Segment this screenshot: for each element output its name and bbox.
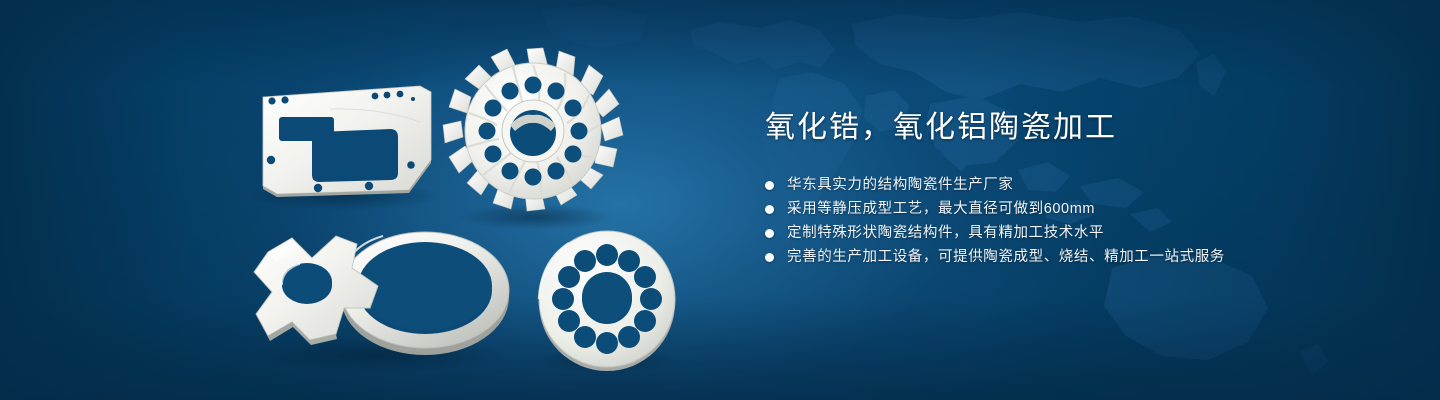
ceramic-cross-plate-and-ring xyxy=(248,232,512,373)
list-item: 采用等静压成型工艺，最大直径可做到600mm xyxy=(765,198,1405,220)
feature-list: 华东具实力的结构陶瓷件生产厂家 采用等静压成型工艺，最大直径可做到600mm 定… xyxy=(765,174,1405,268)
list-item: 完善的生产加工设备，可提供陶瓷成型、烧结、精加工一站式服务 xyxy=(765,246,1405,268)
bullet-dot-icon xyxy=(765,253,774,262)
list-item-label: 采用等静压成型工艺，最大直径可做到600mm xyxy=(787,198,1095,220)
list-item: 华东具实力的结构陶瓷件生产厂家 xyxy=(765,174,1405,196)
bullet-dot-icon xyxy=(765,229,774,238)
ceramic-flange-disc-12-holes xyxy=(535,231,679,373)
list-item-label: 完善的生产加工设备，可提供陶瓷成型、烧结、精加工一站式服务 xyxy=(787,246,1225,268)
product-photo-cluster xyxy=(0,0,740,400)
ceramic-impeller-wheel xyxy=(443,48,623,230)
bullet-dot-icon xyxy=(765,181,774,190)
list-item-label: 定制特殊形状陶瓷结构件，具有精加工技术水平 xyxy=(787,222,1104,244)
page-title: 氧化锆，氧化铝陶瓷加工 xyxy=(765,108,1405,148)
banner-copy: 氧化锆，氧化铝陶瓷加工 华东具实力的结构陶瓷件生产厂家 采用等静压成型工艺，最大… xyxy=(765,108,1405,270)
list-item-label: 华东具实力的结构陶瓷件生产厂家 xyxy=(787,174,1014,196)
ceramic-plate-with-cutouts xyxy=(247,86,443,210)
list-item: 定制特殊形状陶瓷结构件，具有精加工技术水平 xyxy=(765,222,1405,244)
hero-banner: 氧化锆，氧化铝陶瓷加工 华东具实力的结构陶瓷件生产厂家 采用等静压成型工艺，最大… xyxy=(0,0,1440,400)
bullet-dot-icon xyxy=(765,205,774,214)
